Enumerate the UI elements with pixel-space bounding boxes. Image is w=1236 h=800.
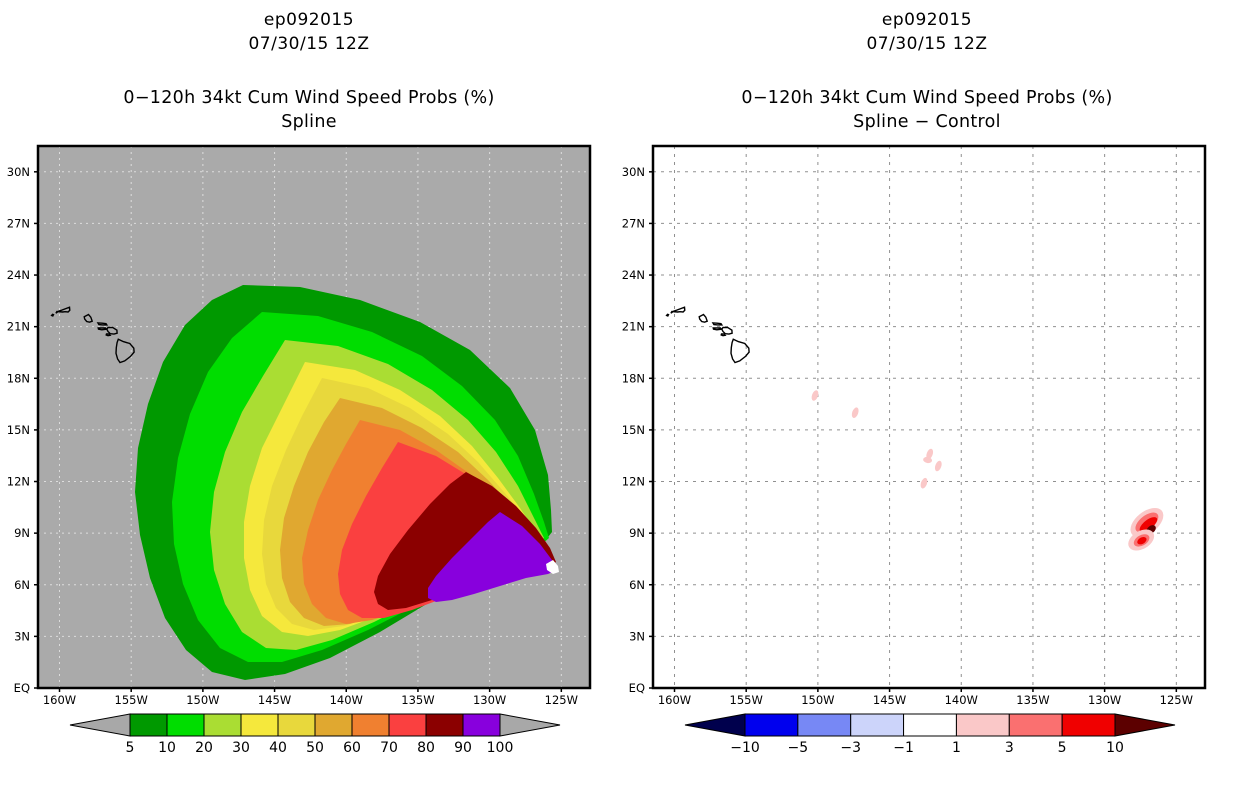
y-tick-label: 30N [622,165,645,179]
y-tick-label: 15N [7,423,30,437]
x-tick-label: 125W [545,693,578,707]
colorbar-tick-label: 3 [1005,740,1014,756]
y-tick-label: 9N [14,526,30,540]
colorbar-tick-label: 30 [232,740,250,756]
colorbar-swatch [1009,714,1062,736]
colorbar-swatch [798,714,851,736]
colorbar-tick-label: 10 [1106,740,1124,756]
y-tick-label: 6N [14,578,30,592]
colorbar-under-arrow [685,714,745,736]
y-tick-label: 24N [622,268,645,282]
y-tick-label: 27N [622,216,645,230]
x-tick-label: 135W [1016,693,1049,707]
panel-spline-minus-control: ep092015 07/30/15 12Z 0−120h 34kt Cum Wi… [618,0,1236,800]
x-tick-label: 130W [1088,693,1121,707]
y-tick-label: 3N [14,629,30,643]
map-plot-difference[interactable]: 160W155W150W145W140W135W130W125W30N27N24… [618,0,1236,710]
plot-background-right [653,146,1205,688]
x-tick-label: 135W [401,693,434,707]
colorbar-swatch [1062,714,1115,736]
y-tick-label: EQ [14,681,30,695]
island-outline [52,314,54,316]
colorbar-swatch [278,714,315,736]
colorbar-tick-label: 50 [306,740,324,756]
colorbar-swatch [904,714,957,736]
colorbar-tick-label: 90 [454,740,472,756]
x-tick-label: 155W [730,693,763,707]
y-tick-label: 21N [622,320,645,334]
colorbar-tick-label: 60 [343,740,361,756]
x-tick-label: 155W [115,693,148,707]
x-tick-label: 150W [801,693,834,707]
x-tick-label: 140W [330,693,363,707]
colorbar-tick-label: 5 [1058,740,1067,756]
y-tick-label: 27N [7,216,30,230]
island-outline [98,323,107,325]
y-tick-label: 18N [622,371,645,385]
x-tick-label: 160W [43,693,76,707]
x-tick-label: 145W [873,693,906,707]
map-plot-spline[interactable]: 160W155W150W145W140W135W130W125W30N27N24… [0,0,618,710]
colorbar-tick-label: 1 [952,740,961,756]
x-tick-label: 130W [473,693,506,707]
island-outline [667,314,669,316]
y-tick-label: EQ [629,681,645,695]
y-tick-label: 15N [622,423,645,437]
colorbar-swatch [167,714,204,736]
y-tick-label: 12N [622,475,645,489]
panel-spline: ep092015 07/30/15 12Z 0−120h 34kt Cum Wi… [0,0,618,800]
x-tick-label: 125W [1160,693,1193,707]
x-tick-label: 140W [945,693,978,707]
colorbar-swatch [315,714,352,736]
y-tick-label: 18N [7,371,30,385]
y-tick-label: 3N [629,629,645,643]
colorbar-tick-label: 40 [269,740,287,756]
colorbar-swatch [956,714,1009,736]
colorbar-tick-label: −1 [893,740,914,756]
y-tick-label: 9N [629,526,645,540]
x-tick-label: 150W [186,693,219,707]
colorbar-tick-label: −10 [730,740,760,756]
colorbar-swatch [352,714,389,736]
y-tick-label: 21N [7,320,30,334]
colorbar-swatch [241,714,278,736]
colorbar-tick-label: 10 [158,740,176,756]
colorbar-swatch [463,714,500,736]
y-tick-label: 30N [7,165,30,179]
colorbar-tick-label: 5 [126,740,135,756]
colorbar-swatch [851,714,904,736]
colorbar-tick-label: 70 [380,740,398,756]
y-tick-label: 6N [629,578,645,592]
colorbar-tick-label: −3 [840,740,861,756]
colorbar-swatch [130,714,167,736]
y-tick-label: 24N [7,268,30,282]
colorbar-under-arrow [70,714,130,736]
colorbar-over-arrow [1115,714,1175,736]
colorbar-swatch [204,714,241,736]
colorbar-swatch [426,714,463,736]
colorbar-tick-label: 80 [417,740,435,756]
colorbar-tick-label: 20 [195,740,213,756]
island-outline [713,323,722,325]
colorbar-tick-label: 100 [487,740,514,756]
colorbar-swatch [745,714,798,736]
x-tick-label: 160W [658,693,691,707]
colorbar-swatch [389,714,426,736]
y-tick-label: 12N [7,475,30,489]
x-tick-label: 145W [258,693,291,707]
colorbar-over-arrow [500,714,560,736]
colorbar-tick-label: −5 [788,740,809,756]
